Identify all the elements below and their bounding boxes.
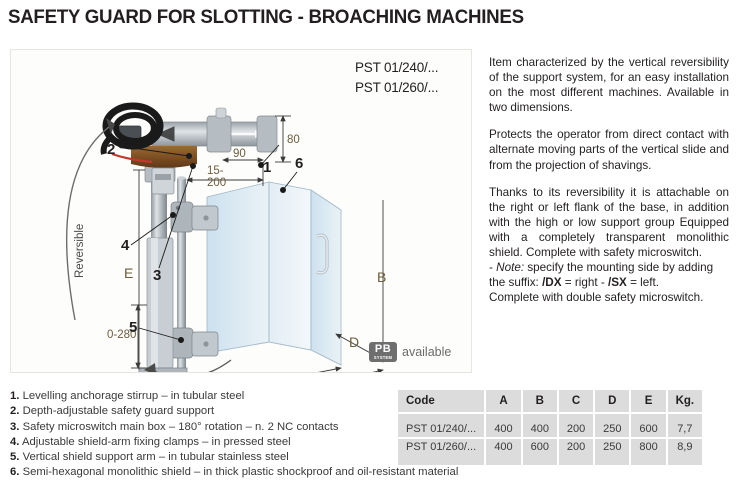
list-item: 6. Semi-hexagonal monolithic shield – in…	[10, 465, 390, 480]
note-middle: = right -	[562, 276, 608, 289]
clamp-lower	[171, 328, 218, 358]
legend-number: 3.	[10, 421, 19, 433]
note-end: = left.	[627, 276, 659, 289]
legend-text: Adjustable shield-arm fixing clamps – in…	[22, 436, 291, 448]
legend-text: Levelling anchorage stirrup – in tubular…	[23, 390, 245, 402]
model-label-240: PST 01/240/...	[355, 60, 438, 75]
legend-number: 1.	[10, 390, 19, 402]
callout-5: 5	[129, 319, 137, 336]
description-paragraph-2: Protects the operator from direct contac…	[489, 127, 729, 172]
description-note: - Note: specify the mounting side by add…	[489, 260, 729, 290]
description-paragraph-5: Complete with double safety microswitch.	[489, 290, 729, 305]
legend-text: Safety microswitch main box – 180° rotat…	[23, 421, 339, 433]
cell-c: 200	[559, 414, 593, 437]
pb-available-label: available	[402, 345, 451, 359]
parts-legend: 1. Levelling anchorage stirrup – in tubu…	[10, 389, 390, 481]
dimension-D-label: D	[349, 334, 359, 350]
callout-4: 4	[121, 237, 130, 254]
legend-text: Vertical shield support arm – in tubular…	[23, 451, 289, 463]
column-header-d: D	[595, 390, 629, 412]
legend-number: 6.	[10, 466, 19, 478]
list-item: 4. Adjustable shield-arm fixing clamps –…	[10, 435, 390, 450]
cell-kg: 8,9	[668, 439, 702, 465]
cell-d: 250	[595, 414, 629, 437]
callout-1: 1	[263, 159, 271, 176]
shield-graphic	[207, 182, 341, 365]
list-item: 1. Levelling anchorage stirrup – in tubu…	[10, 389, 390, 404]
cell-b: 600	[523, 439, 557, 465]
dimension-C	[279, 368, 341, 372]
cell-code: PST 01/260/...	[398, 439, 484, 465]
list-item: 2. Depth-adjustable safety guard support	[10, 404, 390, 419]
cell-kg: 7,7	[668, 414, 702, 437]
legend-text: Depth-adjustable safety guard support	[23, 405, 215, 417]
dimension-80-label: 80	[287, 134, 300, 146]
table-row: PST 01/260/... 400 600 200 250 800 8,9	[398, 439, 702, 465]
note-suffix-sx: /SX	[608, 276, 627, 289]
list-item: 3. Safety microswitch main box – 180° ro…	[10, 420, 390, 435]
dimension-15-label: 15-	[207, 165, 224, 177]
cell-c: 200	[559, 439, 593, 465]
legend-number: 5.	[10, 451, 19, 463]
specification-table: Code A B C D E Kg. PST 01/240/... 400 40…	[396, 388, 704, 467]
cell-e: 800	[631, 439, 665, 465]
list-item: 5. Vertical shield support arm – in tubu…	[10, 450, 390, 465]
legend-number: 2.	[10, 405, 19, 417]
column-header-c: C	[559, 390, 593, 412]
table-header-row: Code A B C D E Kg.	[398, 390, 702, 412]
cell-code: PST 01/240/...	[398, 414, 484, 437]
column-header-b: B	[523, 390, 557, 412]
description-paragraph-1: Item characterized by the vertical rever…	[489, 55, 729, 115]
description-paragraph-3: Thanks to its reversibility it is attach…	[489, 185, 729, 260]
horizontal-arm	[119, 108, 277, 194]
clamp-upper	[171, 202, 218, 232]
model-label-260: PST 01/260/...	[355, 80, 438, 95]
cell-b: 400	[523, 414, 557, 437]
dimension-E-label: E	[124, 265, 133, 281]
column-header-kg: Kg.	[668, 390, 702, 412]
note-suffix-dx: /DX	[542, 276, 561, 289]
cell-a: 400	[486, 439, 520, 465]
cell-a: 400	[486, 414, 520, 437]
callout-3: 3	[153, 267, 161, 284]
note-label: Note:	[496, 261, 524, 274]
legend-number: 4.	[10, 436, 19, 448]
callout-2: 2	[107, 141, 115, 158]
column-header-code: Code	[398, 390, 484, 412]
cell-e: 600	[631, 414, 665, 437]
product-description: Item characterized by the vertical rever…	[489, 55, 729, 317]
callout-6: 6	[295, 155, 303, 172]
cell-d: 250	[595, 439, 629, 465]
page-title: SAFETY GUARD FOR SLOTTING - BROACHING MA…	[8, 6, 524, 29]
dimension-90-label: 90	[233, 148, 246, 160]
reversible-label: Reversible	[74, 224, 86, 278]
dimension-200-label: 200	[207, 177, 226, 189]
dimension-B-label: B	[377, 269, 386, 285]
pb-system-badge: PB SYSTEM available	[369, 342, 451, 362]
pb-system-text: SYSTEM	[374, 356, 392, 360]
table-row: PST 01/240/... 400 400 200 250 600 7,7	[398, 414, 702, 437]
column-header-a: A	[486, 390, 520, 412]
column-header-e: E	[631, 390, 665, 412]
pb-logo: PB SYSTEM	[369, 342, 397, 362]
legend-text: Semi-hexagonal monolithic shield – in th…	[23, 466, 459, 478]
product-diagram: Reversible 80 90 15- 200 0-280	[10, 49, 472, 373]
pb-logo-text: PB	[375, 344, 391, 355]
